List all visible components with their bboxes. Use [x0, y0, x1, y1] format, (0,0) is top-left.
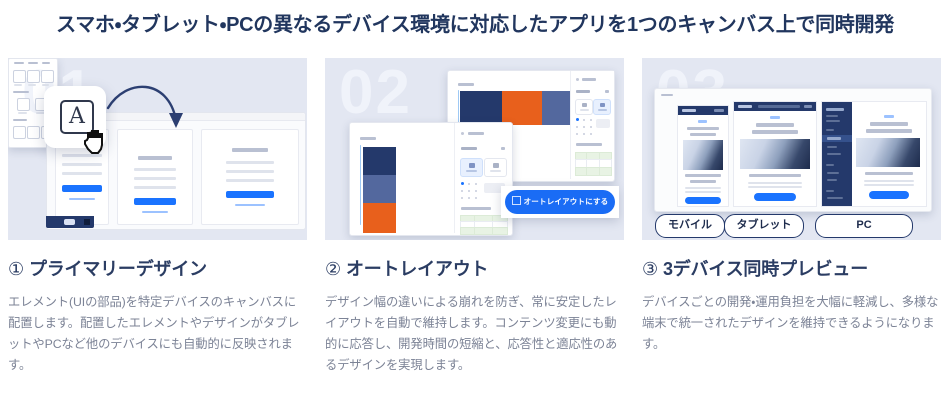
illustration-card-3: 03 [642, 58, 941, 240]
grab-hand-cursor-icon [82, 124, 110, 157]
mobile-layout-panel [349, 122, 513, 236]
mobile-preview-header [678, 106, 728, 115]
feature-section: スマホ・タブレット・PCの異なるデバイス環境に対応したアプリを1つのキャンバス上… [0, 0, 950, 403]
pc-preview-sidebar [822, 102, 852, 206]
feature-heading-1: ①プライマリーデザイン [8, 255, 307, 281]
feature-column-3: 03 [642, 58, 941, 377]
device-pill-group: モバイル タブレット PC [652, 214, 932, 236]
drag-arrow-icon [106, 80, 190, 144]
feature-columns: 01 [8, 58, 942, 377]
layout-option-1[interactable] [575, 99, 593, 115]
feature-heading-3: ③3デバイス同時プレビュー [642, 255, 941, 281]
auto-layout-cta-container: オートレイアウトにする [501, 186, 619, 218]
illustration-card-1: 01 [8, 58, 307, 240]
device-pill-pc[interactable]: PC [815, 214, 913, 238]
device-pill-mobile[interactable]: モバイル [655, 214, 725, 238]
auto-layout-icon [512, 196, 521, 205]
feature-number-3: ③ [642, 259, 658, 279]
inspector-panel-desktop[interactable] [570, 71, 614, 179]
auto-layout-button-label: オートレイアウトにする [524, 197, 609, 206]
auto-layout-button[interactable]: オートレイアウトにする [505, 190, 615, 214]
alignment-dot-grid[interactable] [576, 118, 593, 135]
alignment-dot-grid-mobile[interactable] [461, 182, 478, 199]
layout-option-2[interactable] [593, 99, 611, 115]
feature-column-1: 01 [8, 58, 307, 377]
feature-title-3: 3デバイス同時プレビュー [663, 259, 868, 279]
pc-preview [821, 101, 927, 207]
watermark-number-2: 02 [339, 62, 412, 124]
feature-number-2: ② [325, 259, 341, 279]
feature-heading-2: ②オートレイアウト [325, 255, 624, 281]
layout-option-mobile-1[interactable] [460, 158, 483, 177]
padding-grid-mobile[interactable] [460, 215, 506, 233]
layout-option-mobile-2[interactable] [484, 158, 507, 177]
preview-board [654, 88, 932, 212]
feature-body-1: エレメント(UIの部品)を特定デバイスのキャンバスに配置します。配置したエレメン… [8, 292, 307, 377]
page-title: スマホ・タブレット・PCの異なるデバイス環境に対応したアプリを1つのキャンバス上… [0, 0, 950, 38]
padding-grid-desktop[interactable] [575, 152, 610, 174]
feature-body-2: デザイン幅の違いによる崩れを防ぎ、常に安定したレイアウトを自動で維持します。コン… [325, 292, 624, 377]
device-pill-tablet[interactable]: タブレット [724, 214, 804, 238]
illustration-card-2: 02 [325, 58, 624, 240]
feature-body-3: デバイスごとの開発・運用負担を大幅に軽減し、多様な端末で統一されたデザインを維持… [642, 292, 941, 355]
feature-title-2: オートレイアウト [346, 259, 488, 279]
mobile-preview [677, 105, 729, 207]
pc-artboard [201, 129, 299, 225]
feature-title-1: プライマリーデザイン [29, 259, 207, 279]
palette-footer-bar [46, 216, 94, 228]
feature-number-1: ① [8, 259, 24, 279]
tablet-preview-header [734, 102, 816, 111]
feature-column-2: 02 [325, 58, 624, 377]
tablet-preview [733, 101, 817, 207]
